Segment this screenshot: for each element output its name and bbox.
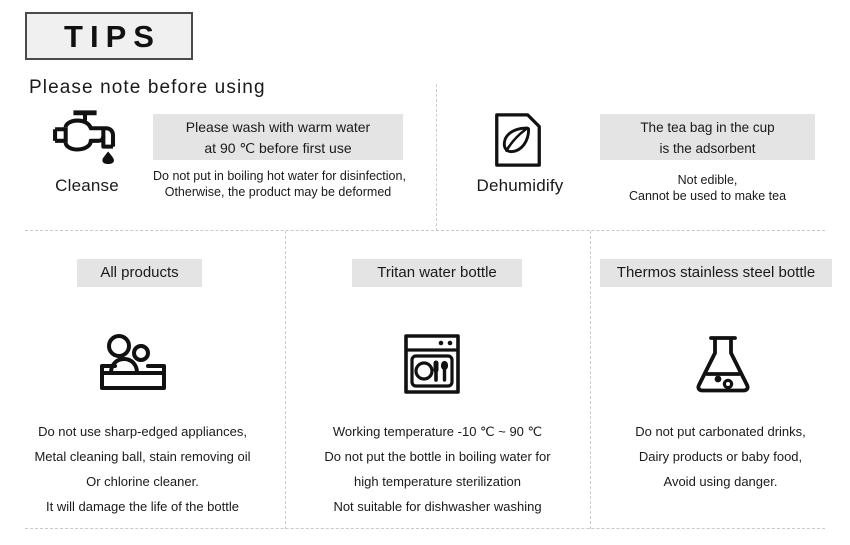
dehumidify-label: Dehumidify: [460, 176, 580, 196]
all-products-note-line-4: It will damage the life of the bottle: [15, 494, 270, 519]
thermos-bottle-note-line-3: Avoid using danger.: [593, 469, 848, 494]
cleanse-band-line-2: at 90 ℃ before first use: [153, 138, 403, 159]
tritan-bottle-note-line-4: Not suitable for dishwasher washing: [310, 494, 565, 519]
dehumidify-band-line-1: The tea bag in the cup: [600, 117, 815, 138]
tips-title-badge: TIPS: [25, 12, 193, 60]
tips-title-text: TIPS: [57, 21, 161, 52]
tritan-bottle-note-line-3: high temperature sterilization: [310, 469, 565, 494]
cleanse-note-line-2: Otherwise, the product may be deformed: [153, 184, 403, 200]
wash-basin-icon: [99, 334, 167, 392]
cleanse-note: Do not put in boiling hot water for disi…: [153, 168, 403, 200]
divider-horizontal-upper: [25, 230, 825, 231]
dehumidify-note: Not edible, Cannot be used to make tea: [600, 172, 815, 204]
thermos-bottle-note-line-2: Dairy products or baby food,: [593, 444, 848, 469]
thermos-bottle-band: Thermos stainless steel bottle: [600, 259, 832, 287]
dehumidify-highlight-band: The tea bag in the cup is the adsorbent: [600, 114, 815, 160]
dehumidify-note-line-1: Not edible,: [600, 172, 815, 188]
flask-icon: [694, 333, 752, 395]
all-products-note-line-1: Do not use sharp-edged appliances,: [15, 419, 270, 444]
dishwasher-icon: [403, 333, 461, 395]
divider-vertical-bottom-left: [285, 231, 286, 529]
divider-vertical-bottom-right: [590, 231, 591, 529]
all-products-note: Do not use sharp-edged appliances, Metal…: [15, 419, 270, 519]
dehumidify-band-line-2: is the adsorbent: [600, 138, 815, 159]
tritan-bottle-note: Working temperature -10 ℃ ~ 90 ℃ Do not …: [310, 419, 565, 519]
tritan-bottle-band: Tritan water bottle: [352, 259, 522, 287]
tritan-bottle-note-line-2: Do not put the bottle in boiling water f…: [310, 444, 565, 469]
all-products-band: All products: [77, 259, 202, 287]
cleanse-note-line-1: Do not put in boiling hot water for disi…: [153, 168, 403, 184]
tips-infographic: TIPS Please note before using: [0, 0, 850, 545]
section-heading: Please note before using: [29, 77, 266, 99]
thermos-bottle-note: Do not put carbonated drinks, Dairy prod…: [593, 419, 848, 494]
divider-horizontal-lower: [25, 528, 825, 529]
divider-vertical-top-row: [436, 84, 437, 231]
cleanse-label: Cleanse: [27, 176, 147, 196]
dehumidify-note-line-2: Cannot be used to make tea: [600, 188, 815, 204]
faucet-icon: [50, 108, 120, 164]
leaf-desiccant-icon: [492, 112, 544, 168]
thermos-bottle-note-line-1: Do not put carbonated drinks,: [593, 419, 848, 444]
tritan-bottle-note-line-1: Working temperature -10 ℃ ~ 90 ℃: [310, 419, 565, 444]
all-products-note-line-3: Or chlorine cleaner.: [15, 469, 270, 494]
cleanse-highlight-band: Please wash with warm water at 90 ℃ befo…: [153, 114, 403, 160]
cleanse-band-line-1: Please wash with warm water: [153, 117, 403, 138]
all-products-note-line-2: Metal cleaning ball, stain removing oil: [15, 444, 270, 469]
